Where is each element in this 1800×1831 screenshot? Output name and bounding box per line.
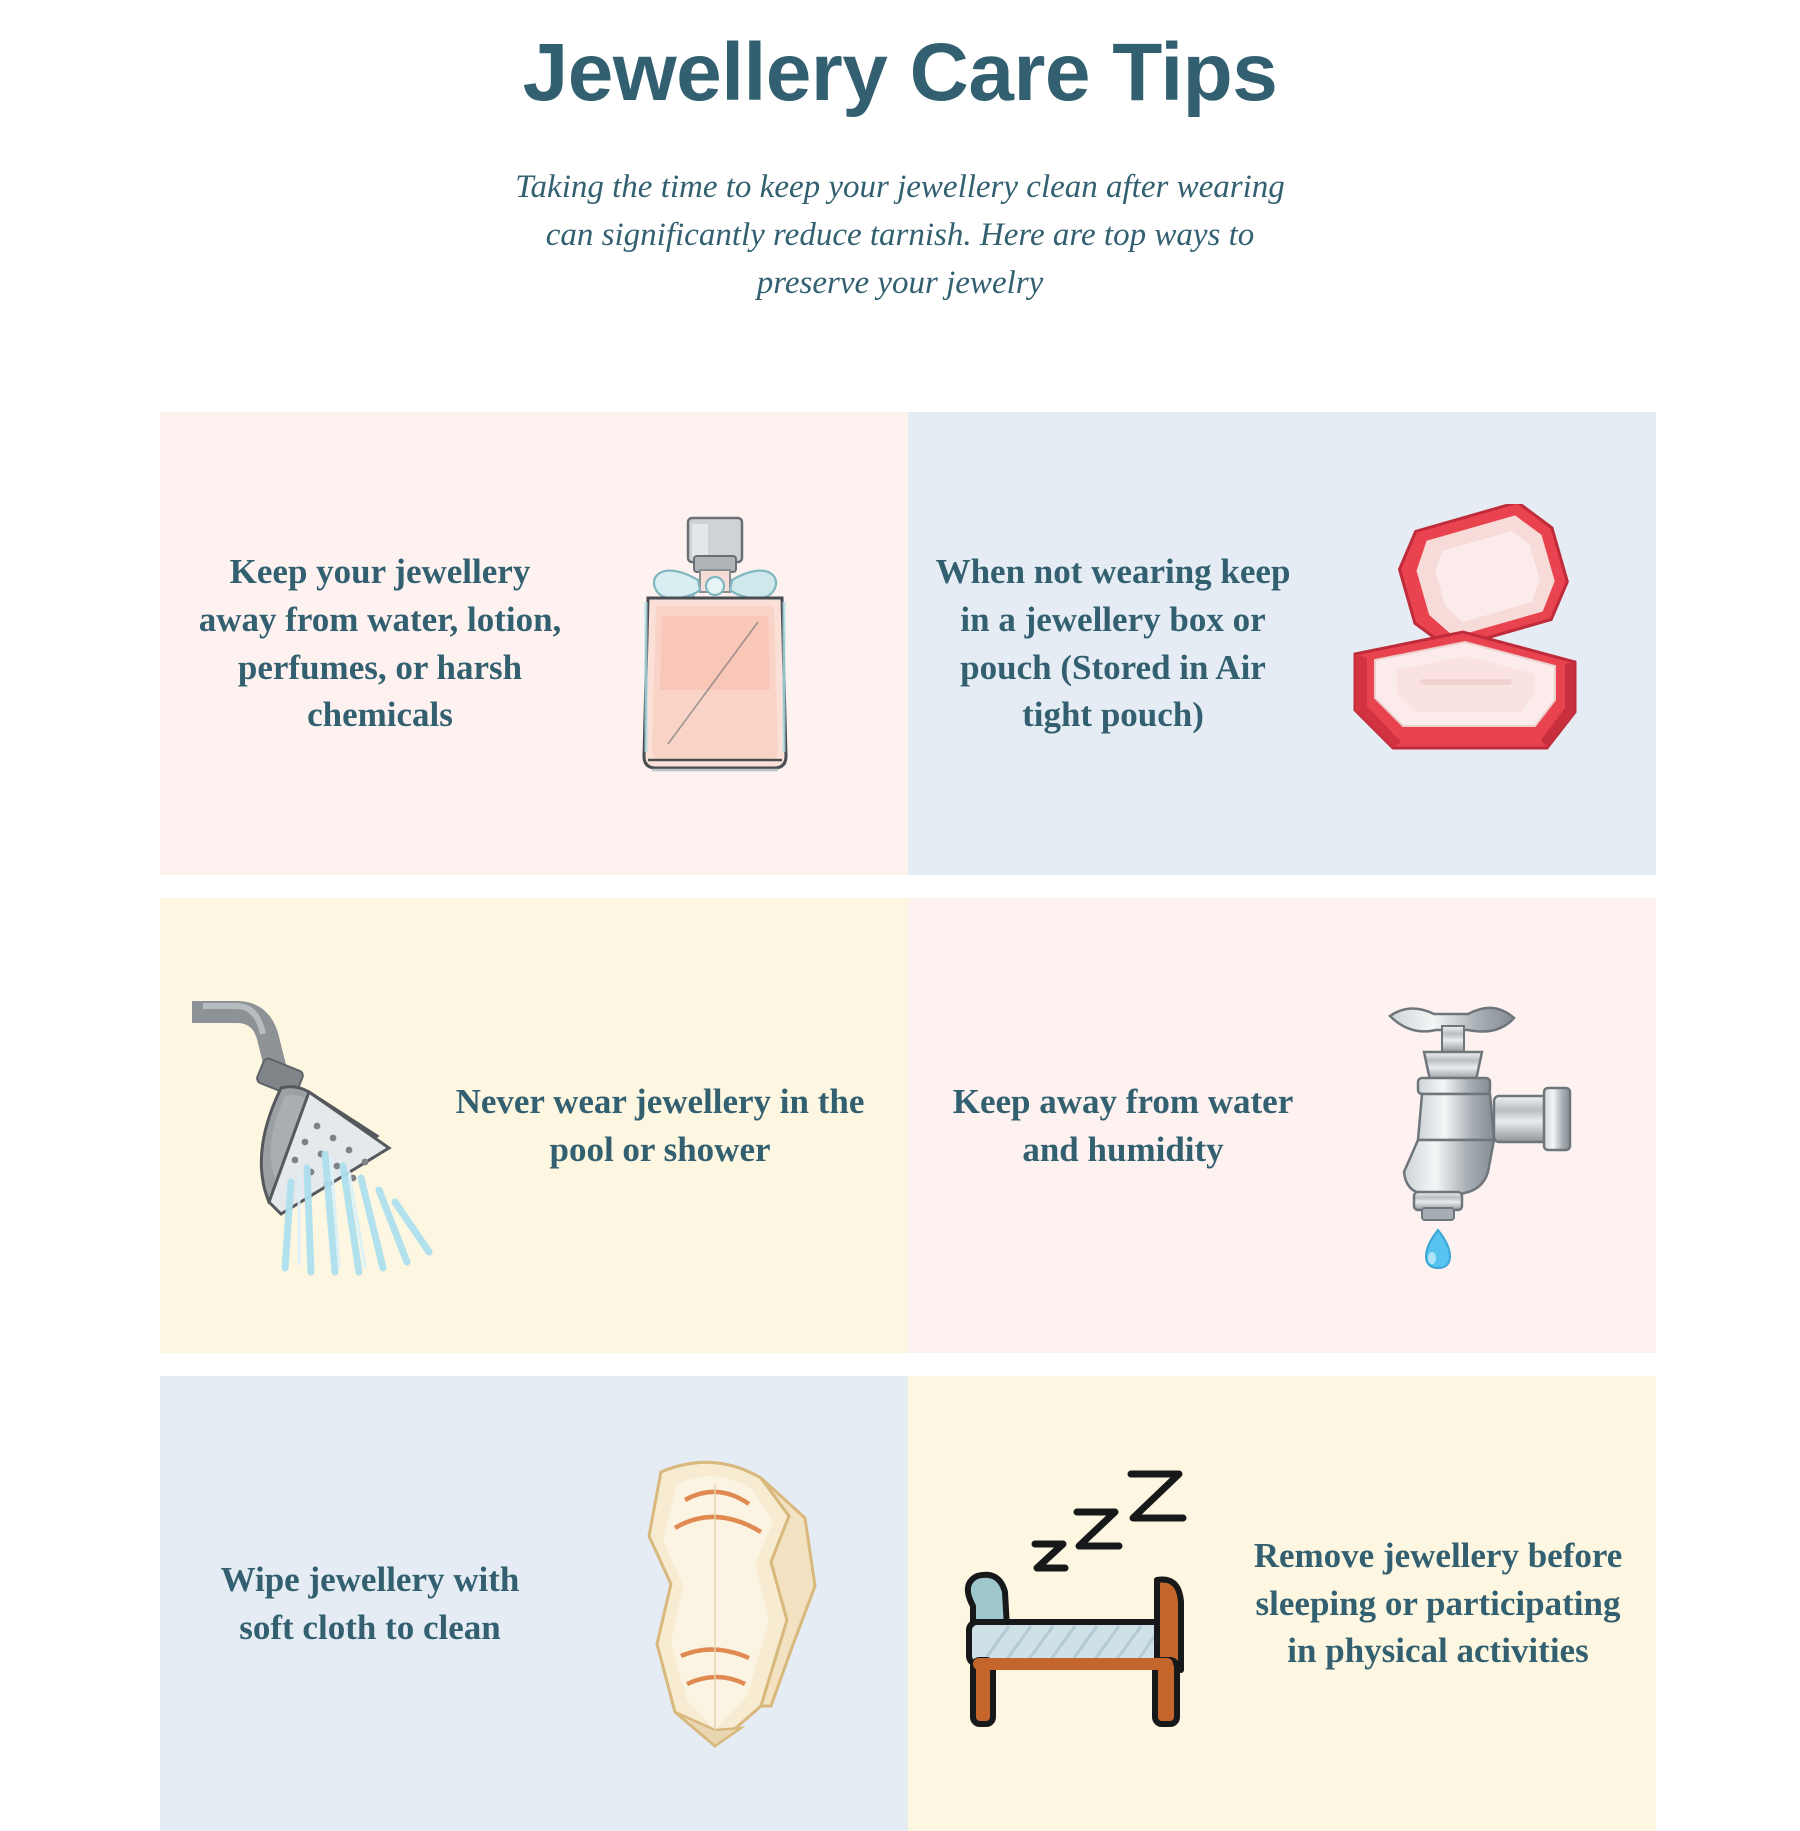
tip-card-humidity[interactable]: Keep away from water and humidity	[908, 898, 1656, 1353]
page-subtitle: Taking the time to keep your jewellery c…	[500, 164, 1300, 308]
tip-card-chemicals[interactable]: Keep your jewellery away from water, lot…	[160, 412, 908, 875]
tip-card-cloth[interactable]: Wipe jewellery with soft cloth to clean	[160, 1376, 908, 1831]
header: Jewellery Care Tips Taking the time to k…	[0, 0, 1800, 308]
bed-sleeping-icon	[908, 1464, 1238, 1744]
tip-card-label: Never wear jewellery in the pool or show…	[450, 1078, 870, 1174]
tip-card-label: When not wearing keep in a jewellery box…	[908, 548, 1298, 740]
tip-card-label: Remove jewellery before sleeping or part…	[1238, 1532, 1638, 1676]
jewellery-box-icon	[1298, 504, 1628, 784]
page-title: Jewellery Care Tips	[0, 30, 1800, 116]
shower-head-icon	[160, 976, 450, 1276]
tips-grid: Keep your jewellery away from water, lot…	[160, 412, 1647, 1831]
tip-card-sleep[interactable]: Remove jewellery before sleeping or part…	[908, 1376, 1656, 1831]
tip-card-label: Wipe jewellery with soft cloth to clean	[160, 1556, 550, 1652]
tip-card-shower[interactable]: Never wear jewellery in the pool or show…	[160, 898, 908, 1353]
perfume-bottle-icon	[570, 494, 860, 794]
infographic-page: Jewellery Care Tips Taking the time to k…	[0, 0, 1800, 1800]
tip-card-label: Keep away from water and humidity	[908, 1078, 1298, 1174]
polishing-cloth-icon	[550, 1444, 870, 1764]
tip-card-storage[interactable]: When not wearing keep in a jewellery box…	[908, 412, 1656, 875]
tip-card-label: Keep your jewellery away from water, lot…	[160, 548, 570, 740]
water-faucet-icon	[1298, 976, 1618, 1276]
